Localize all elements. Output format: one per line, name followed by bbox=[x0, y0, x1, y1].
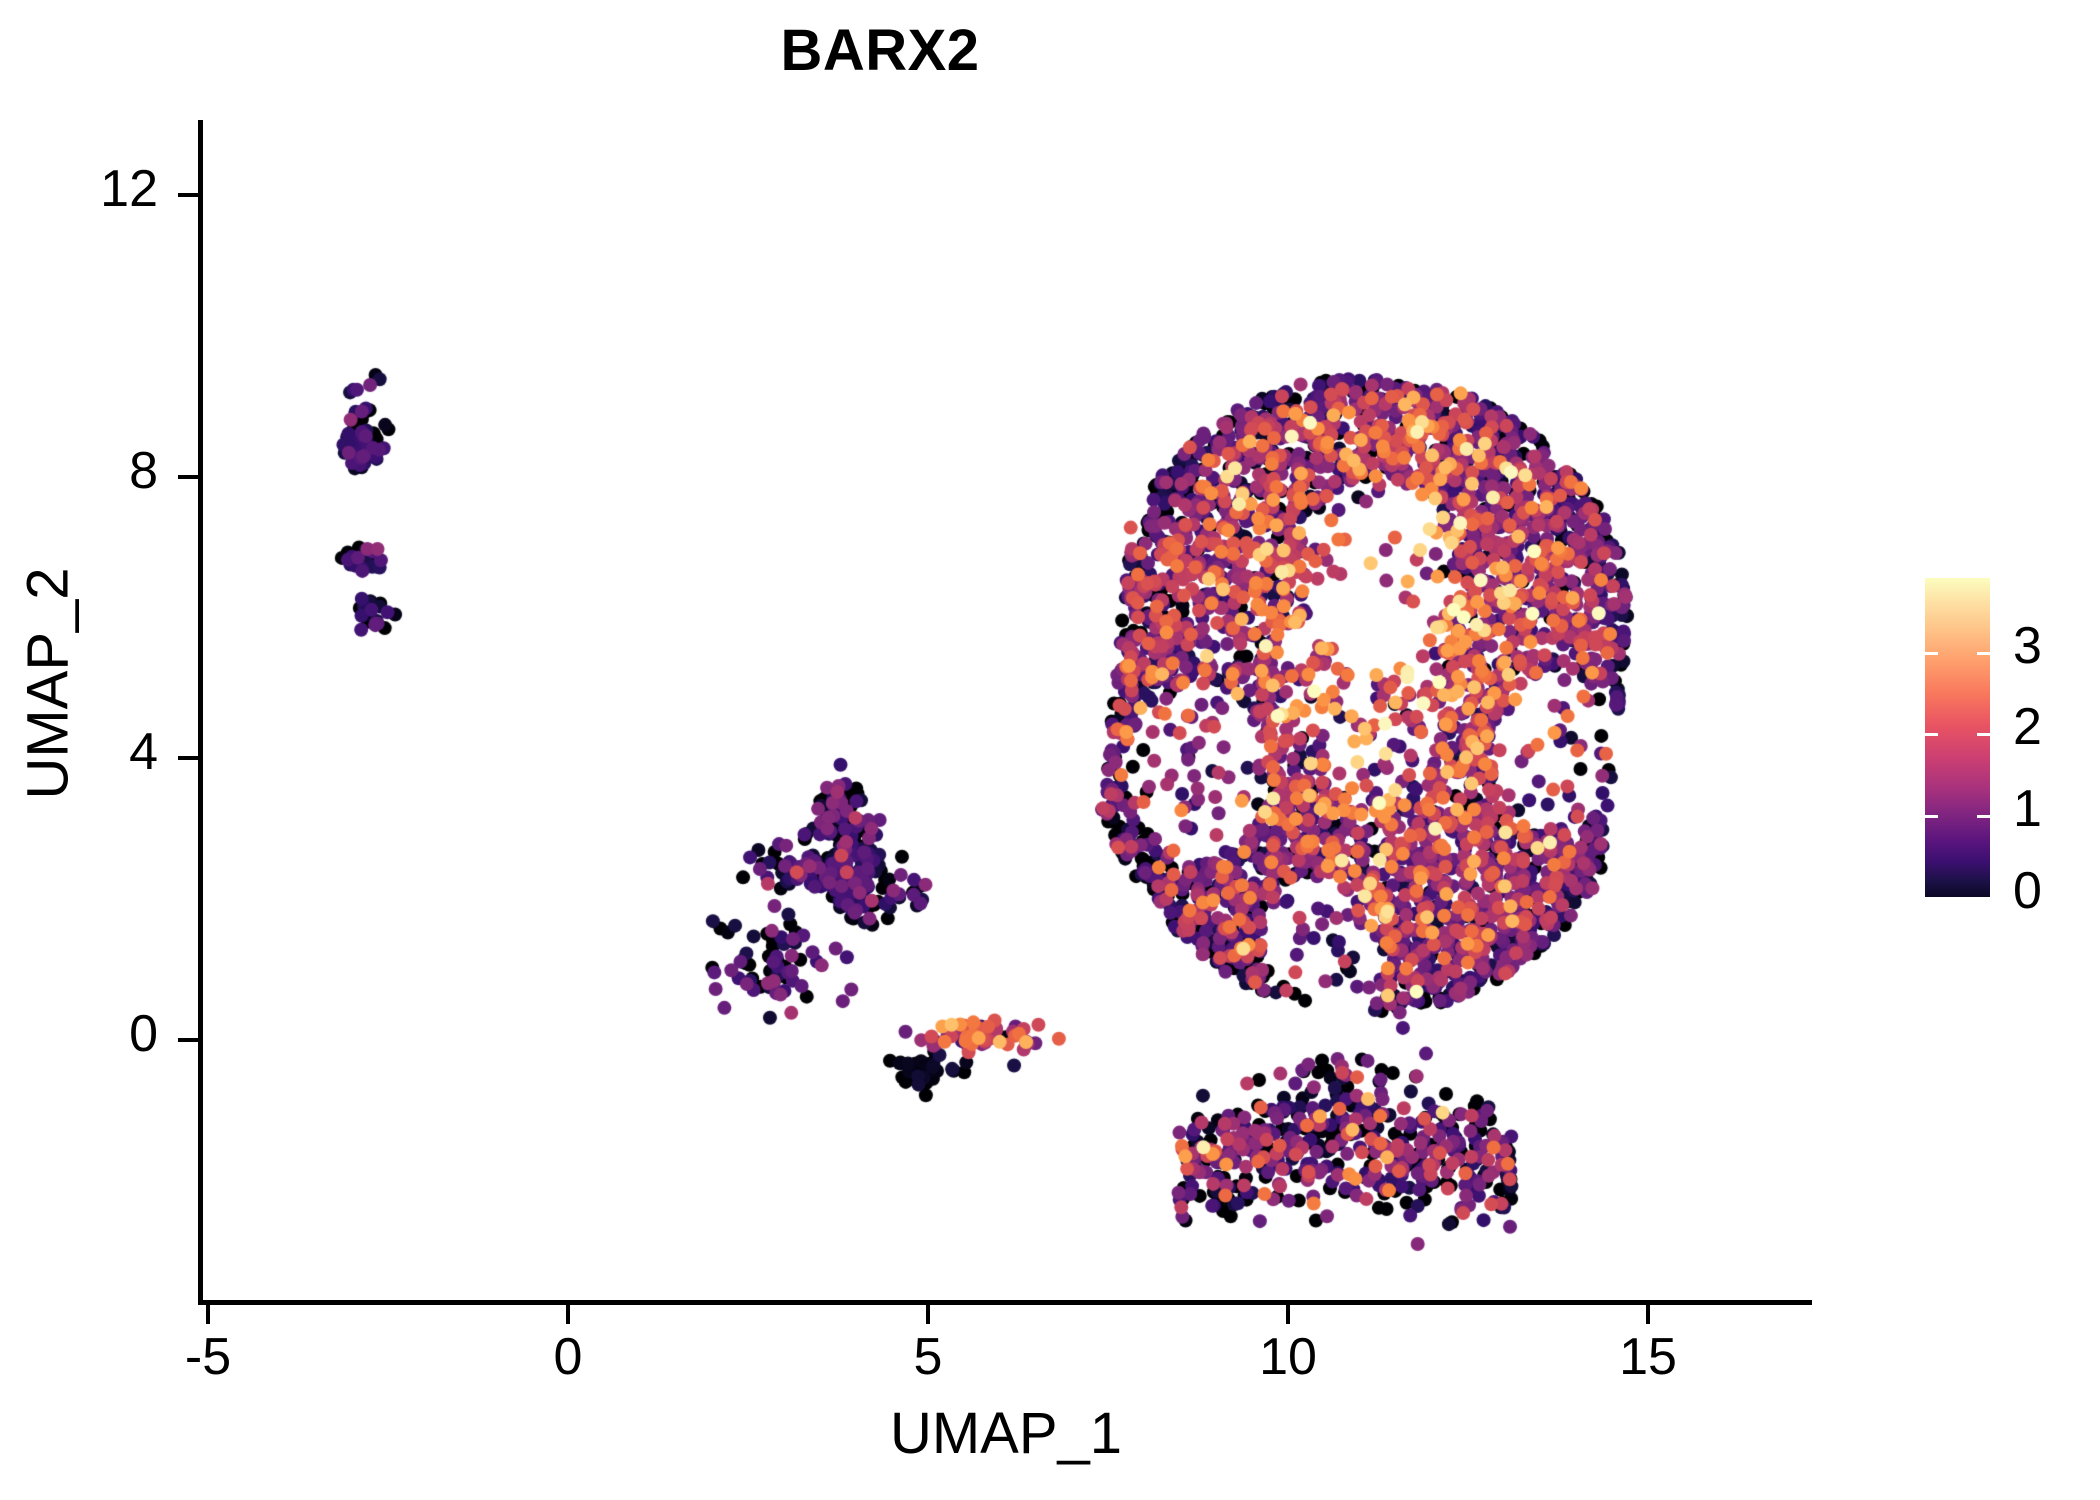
x-tick bbox=[1286, 1304, 1290, 1324]
colorbar-legend: 0123 bbox=[1925, 578, 2095, 903]
x-axis-label: UMAP_1 bbox=[200, 1400, 1812, 1467]
y-tick bbox=[178, 193, 198, 197]
colorbar-tick bbox=[1925, 652, 1938, 655]
colorbar-tick bbox=[1925, 733, 1938, 736]
y-axis-line bbox=[198, 120, 203, 1305]
x-tick-label: 15 bbox=[1548, 1330, 1748, 1385]
x-axis-line bbox=[200, 1300, 1812, 1305]
colorbar-tick-label: 2 bbox=[2013, 700, 2093, 755]
y-tick bbox=[178, 756, 198, 760]
colorbar-tick bbox=[1925, 815, 1938, 818]
x-tick bbox=[1646, 1304, 1650, 1324]
colorbar-tick bbox=[1977, 652, 1990, 655]
colorbar-gradient bbox=[1925, 578, 1990, 897]
y-tick bbox=[178, 475, 198, 479]
colorbar-tick-label: 1 bbox=[2013, 782, 2093, 837]
colorbar-tick bbox=[1977, 815, 1990, 818]
umap-feature-plot: BARX2 -5051015 04812 UMAP_1 UMAP_2 0123 bbox=[0, 0, 2100, 1500]
x-tick bbox=[206, 1304, 210, 1324]
colorbar-tick-label: 0 bbox=[2013, 864, 2093, 919]
x-tick bbox=[566, 1304, 570, 1324]
y-tick-label: 12 bbox=[0, 162, 158, 217]
y-tick bbox=[178, 1038, 198, 1042]
scatter-points-layer bbox=[200, 120, 1812, 1302]
x-tick-label: 5 bbox=[828, 1330, 1028, 1385]
x-tick-label: 0 bbox=[468, 1330, 668, 1385]
colorbar-tick bbox=[1977, 733, 1990, 736]
colorbar-tick-label: 3 bbox=[2013, 619, 2093, 674]
colorbar-tick bbox=[1925, 897, 1938, 900]
colorbar-tick bbox=[1977, 897, 1990, 900]
y-axis-label: UMAP_2 bbox=[15, 334, 82, 1034]
plot-panel bbox=[200, 120, 1812, 1302]
x-tick-label: 10 bbox=[1188, 1330, 1388, 1385]
page-title: BARX2 bbox=[0, 22, 1760, 80]
x-tick bbox=[926, 1304, 930, 1324]
x-tick-label: -5 bbox=[108, 1330, 308, 1385]
